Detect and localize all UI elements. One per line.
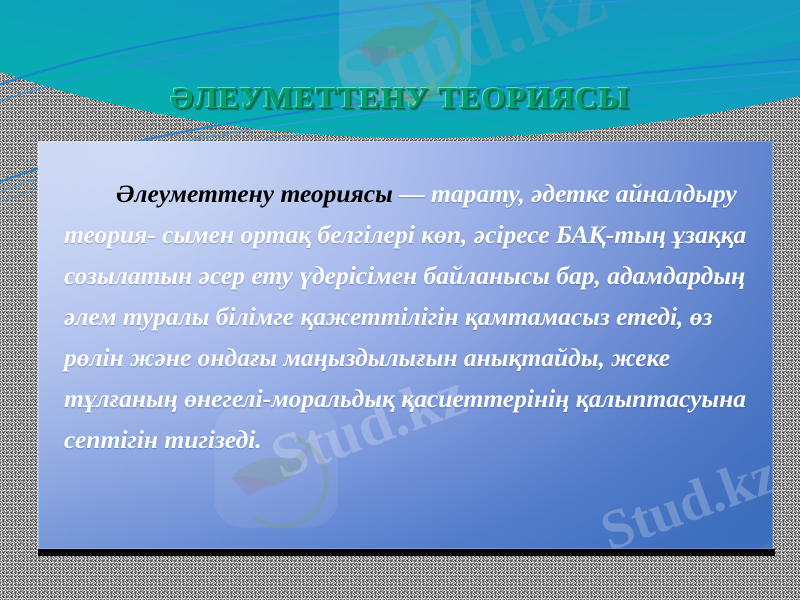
page-title: ӘЛЕУМЕТТЕНУ ТЕОРИЯСЫ [0, 80, 800, 116]
slide-canvas: Stud.kz ӘЛЕУМЕТТЕНУ ТЕОРИЯСЫ Stud.kz Stu… [0, 0, 800, 600]
definition-paragraph: Әлеуметтену теориясы — тарату, әдетке ай… [64, 173, 754, 460]
watermark-bottom: Stud.kz - Stud.kz [308, 515, 773, 549]
content-panel: Stud.kz Stud.kz Stud.kz - Stud.kz Stud.k… [38, 141, 773, 549]
definition-body: — тарату, әдетке айналдыру теория- сымен… [64, 179, 746, 454]
panel-bottom-bar [38, 549, 775, 556]
definition-term: Әлеуметтену теориясы [116, 179, 393, 208]
